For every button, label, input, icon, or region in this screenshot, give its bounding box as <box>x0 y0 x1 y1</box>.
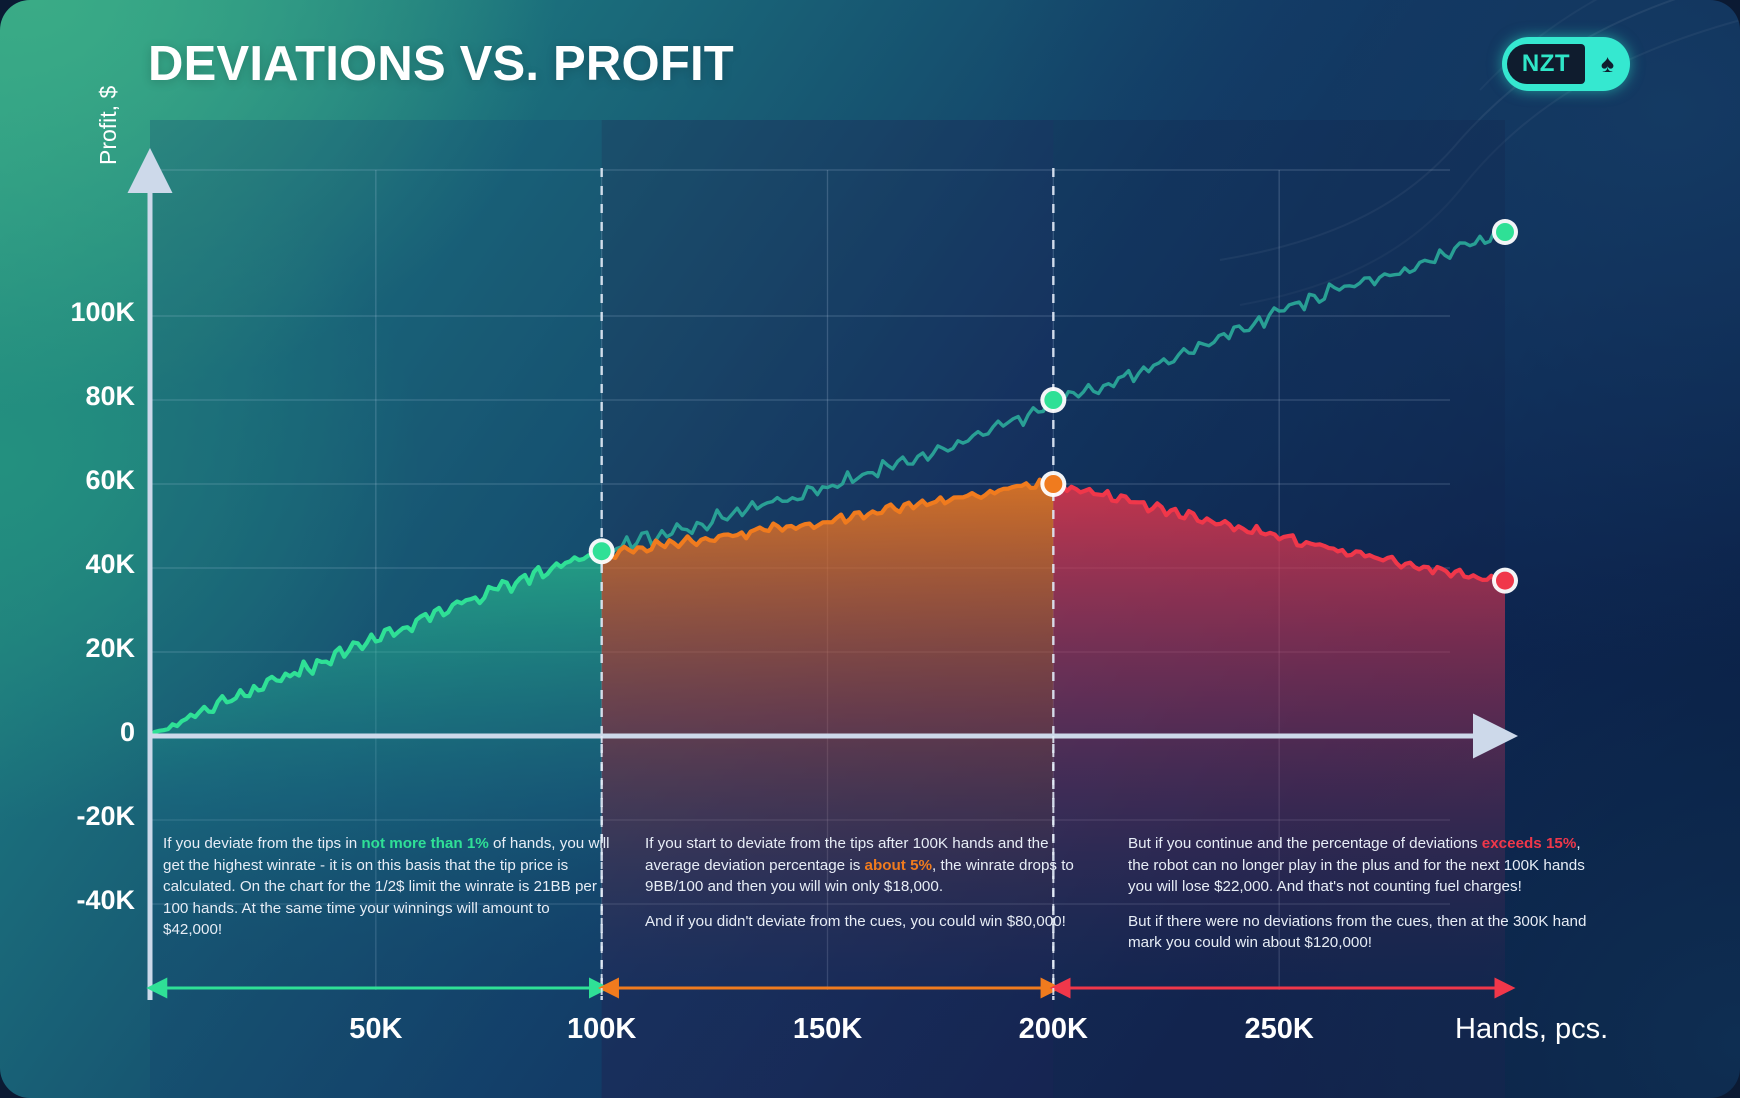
y-tick--20K: -20K <box>0 801 135 832</box>
annotation-zone-2: If you start to deviate from the tips af… <box>645 833 1093 932</box>
chart-container: Profit, $100K80K60K40K20K0-20K-40K50K100… <box>0 0 1740 1098</box>
y-axis-title: Profit, $ <box>95 86 122 165</box>
annotation-zone-1: If you deviate from the tips in not more… <box>163 833 611 941</box>
annotation-zone-3-p2: But if there were no deviations from the… <box>1128 911 1598 954</box>
highlight-green: not more than 1% <box>361 835 488 852</box>
y-tick-60K: 60K <box>0 465 135 496</box>
annotation-zone-3-p1: But if you continue and the percentage o… <box>1128 833 1598 898</box>
x-axis-title: Hands, pcs. <box>1455 1013 1608 1046</box>
text-run: If you deviate from the tips in <box>163 835 361 852</box>
x-tick-50K: 50K <box>286 1013 466 1046</box>
highlight-red: exceeds 15% <box>1482 835 1577 852</box>
x-tick-200K: 200K <box>963 1013 1143 1046</box>
marker-300k-teal <box>1492 219 1518 245</box>
y-tick-0: 0 <box>0 717 135 748</box>
text-run: But if you continue and the percentage o… <box>1128 835 1482 852</box>
text-run: But if there were no deviations from the… <box>1128 913 1586 952</box>
x-tick-250K: 250K <box>1189 1013 1369 1046</box>
annotation-zone-1-p1: If you deviate from the tips in not more… <box>163 833 611 941</box>
y-tick-100K: 100K <box>0 297 135 328</box>
y-tick-80K: 80K <box>0 381 135 412</box>
marker-200k-orange <box>1040 471 1066 497</box>
y-tick-40K: 40K <box>0 549 135 580</box>
x-tick-100K: 100K <box>512 1013 692 1046</box>
x-tick-150K: 150K <box>738 1013 918 1046</box>
infographic-root: DEVIATIONS VS. PROFIT NZT ♠ Profit, $100… <box>0 0 1740 1098</box>
text-run: And if you didn't deviate from the cues,… <box>645 913 1066 930</box>
marker-300k-red <box>1492 568 1518 594</box>
marker-100k-green <box>589 538 615 564</box>
y-tick--40K: -40K <box>0 885 135 916</box>
annotation-zone-2-p2: And if you didn't deviate from the cues,… <box>645 911 1093 933</box>
annotation-zone-2-p1: If you start to deviate from the tips af… <box>645 833 1093 898</box>
annotation-zone-3: But if you continue and the percentage o… <box>1128 833 1598 954</box>
highlight-orange: about 5% <box>865 857 933 874</box>
y-tick-20K: 20K <box>0 633 135 664</box>
marker-200k-teal <box>1040 387 1066 413</box>
